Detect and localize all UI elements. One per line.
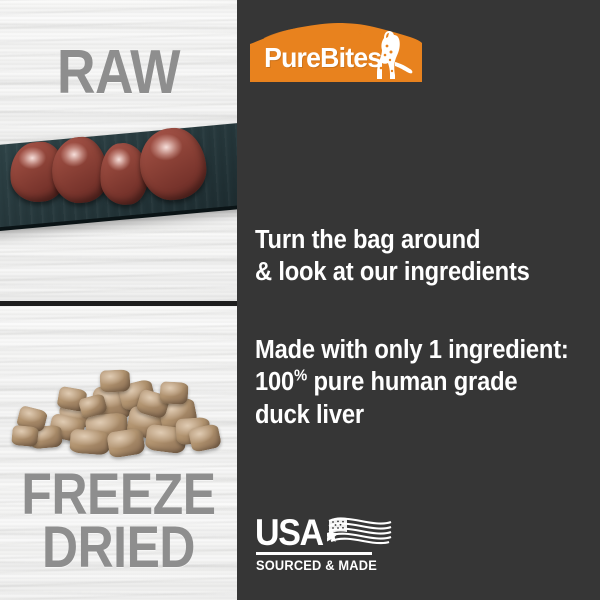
usa-title: USA (255, 512, 323, 554)
freeze-dried-label: FREEZE DRIED (17, 468, 221, 575)
headline-turn-the-bag: Turn the bag around & look at our ingred… (255, 224, 530, 289)
freeze-dried-liver-pile (0, 330, 237, 452)
headline-ingredient: Made with only 1 ingredient: 100% pure h… (255, 334, 569, 431)
usa-subtitle: SOURCED & MADE (256, 558, 377, 573)
freeze-dried-chunk (159, 381, 188, 404)
freeze-dried-chunk (11, 425, 39, 447)
freeze-dried-chunk (69, 429, 111, 456)
purebites-logo[interactable]: PureBites (250, 20, 422, 82)
logo-wordmark: PureBites (264, 42, 381, 74)
percent-symbol: % (294, 368, 307, 385)
usa-divider-rule (256, 552, 372, 555)
freeze-dried-chunk (188, 423, 222, 453)
freeze-dried-chunk (99, 369, 130, 393)
raw-label: RAW (17, 44, 221, 101)
usa-flag-icon (327, 516, 393, 547)
dog-silhouette-icon (370, 30, 416, 82)
usa-sourced-made-badge: USA SOURCED & MADE (255, 512, 405, 574)
right-content-panel: PureBites Turn the bag around & look at … (237, 0, 600, 600)
left-photo-column: RAW FREEZE DRIED (0, 0, 237, 600)
panel-divider (0, 301, 237, 306)
product-marketing-card: RAW FREEZE DRIED PureBites (0, 0, 600, 600)
